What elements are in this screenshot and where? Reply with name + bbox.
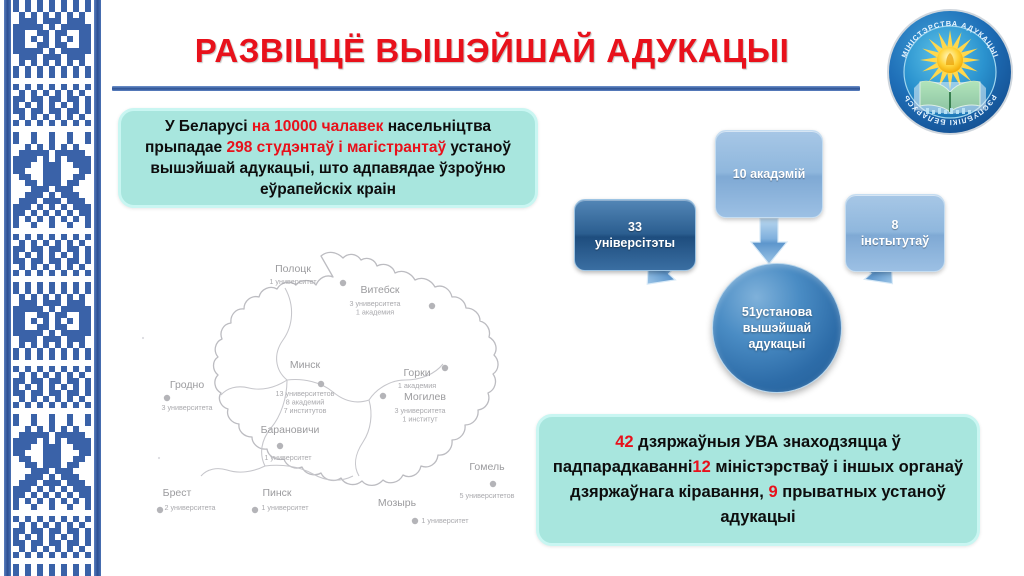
ornament-rail-right bbox=[94, 0, 101, 576]
institution-breakdown-diagram: 33 універсітэты 10 акадэмій 8 інстытутаў… bbox=[560, 118, 990, 408]
diagram-box-institutes: 8 інстытутаў bbox=[845, 194, 945, 272]
map-city-name: Минск bbox=[290, 359, 321, 371]
institutes-count: 8 bbox=[892, 218, 899, 232]
map-city-dot bbox=[252, 507, 258, 513]
center-line-3: адукацыі bbox=[748, 337, 805, 351]
page-title: РАЗВІЦЦЁ ВЫШЭЙШАЙ АДУКАЦЫІ bbox=[195, 32, 790, 70]
map-city-name: Гродно bbox=[170, 379, 204, 391]
title-divider-rule bbox=[112, 86, 860, 91]
panel-segment-3: 298 студэнтаў і магістрантаў bbox=[226, 139, 446, 156]
map-city-dot bbox=[157, 507, 163, 513]
center-line-1: 51установа bbox=[742, 305, 812, 319]
map-city: Мозырь1 университет bbox=[378, 497, 469, 525]
institutes-label: інстытутаў bbox=[861, 234, 929, 248]
map-city-name: Могилев bbox=[404, 391, 446, 403]
map-city-dot bbox=[380, 393, 386, 399]
map-city: Пинск1 университет bbox=[252, 487, 309, 513]
map-city-name: Витебск bbox=[360, 284, 399, 296]
map-city-detail: 1 университет bbox=[269, 277, 317, 286]
map-city-name: Барановичи bbox=[261, 424, 320, 436]
academies-label: 10 акадэмій bbox=[733, 166, 806, 182]
statistics-panel-bottom-text: 42 дзяржаўныя УВА знаходзяцца ў падпарад… bbox=[539, 430, 977, 530]
map-city-detail: 2 университета bbox=[164, 503, 215, 512]
ministry-of-education-emblem-icon: МІНІСТЭРСТВА АДУКАЦЫІ РЭСПУБЛІКІ БЕЛАРУС… bbox=[886, 8, 1014, 136]
map-city-name: Горки bbox=[403, 367, 430, 379]
statistics-panel-top-text: У Беларусі на 10000 чалавек насельніцтва… bbox=[121, 116, 535, 200]
map-city: Гомель5 университетов bbox=[460, 461, 515, 500]
diagram-box-universities: 33 універсітэты bbox=[574, 199, 696, 271]
panel-segment-0: У Беларусі bbox=[165, 118, 252, 135]
ornament-rail-left bbox=[4, 0, 11, 576]
belarusian-ornament-border bbox=[0, 0, 105, 576]
map-city-name: Пинск bbox=[262, 487, 291, 499]
panel-segment-2: 12 bbox=[692, 458, 710, 476]
map-city-dot bbox=[429, 303, 435, 309]
map-city-detail: 1 академия bbox=[356, 308, 394, 317]
panel-segment-4: 9 bbox=[764, 483, 778, 501]
map-city-detail: 1 институт bbox=[402, 415, 438, 424]
arrow-academies-to-center bbox=[751, 218, 787, 264]
center-line-2: вышэйшай bbox=[743, 321, 811, 335]
belarus-map-svg: Полоцк1 университетВитебск3 университета… bbox=[125, 228, 533, 558]
map-city-dot bbox=[442, 365, 448, 371]
map-city-name: Гомель bbox=[469, 461, 505, 473]
map-city: Гродно3 университета bbox=[161, 379, 212, 412]
statistics-panel-top: У Беларусі на 10000 чалавек насельніцтва… bbox=[118, 108, 538, 208]
map-city-dot bbox=[164, 395, 170, 401]
panel-segment-1: на 10000 чалавек bbox=[252, 118, 384, 135]
map-city-dot bbox=[318, 381, 324, 387]
ornament-pattern-icon bbox=[13, 0, 91, 576]
universities-count: 33 bbox=[628, 220, 642, 234]
panel-segment-0: 42 bbox=[615, 433, 633, 451]
map-city-detail: 1 университет bbox=[421, 516, 469, 525]
map-city-dot bbox=[412, 518, 418, 524]
universities-label: універсітэты bbox=[595, 236, 675, 250]
belarus-outline-path bbox=[214, 252, 499, 485]
map-city-name: Брест bbox=[163, 487, 192, 499]
map-city-dot bbox=[277, 443, 283, 449]
map-city-detail: 5 университетов bbox=[460, 491, 515, 500]
map-city-detail: 1 университет bbox=[264, 453, 312, 462]
map-city-dot bbox=[340, 280, 346, 286]
map-city-dot bbox=[490, 481, 496, 487]
map-city-detail: 1 университет bbox=[261, 503, 309, 512]
title-bar: РАЗВІЦЦЁ ВЫШЭЙШАЙ АДУКАЦЫІ bbox=[112, 22, 872, 80]
statistics-panel-bottom: 42 дзяржаўныя УВА знаходзяцца ў падпарад… bbox=[536, 414, 980, 546]
map-city-detail: 7 институтов bbox=[284, 406, 327, 415]
belarus-map: Полоцк1 университетВитебск3 университета… bbox=[125, 228, 533, 558]
map-city-detail: 1 академия bbox=[398, 381, 436, 390]
diagram-box-academies: 10 акадэмій bbox=[715, 130, 823, 218]
map-city-detail: 3 университета bbox=[161, 403, 212, 412]
map-city-name: Полоцк bbox=[275, 263, 311, 275]
slide-root: РАЗВІЦЦЁ ВЫШЭЙШАЙ АДУКАЦЫІ bbox=[0, 0, 1024, 576]
diagram-center-circle: 51установа вышэйшай адукацыі bbox=[712, 263, 842, 393]
map-city-name: Мозырь bbox=[378, 497, 417, 509]
map-city: Брест2 университета bbox=[157, 487, 216, 513]
